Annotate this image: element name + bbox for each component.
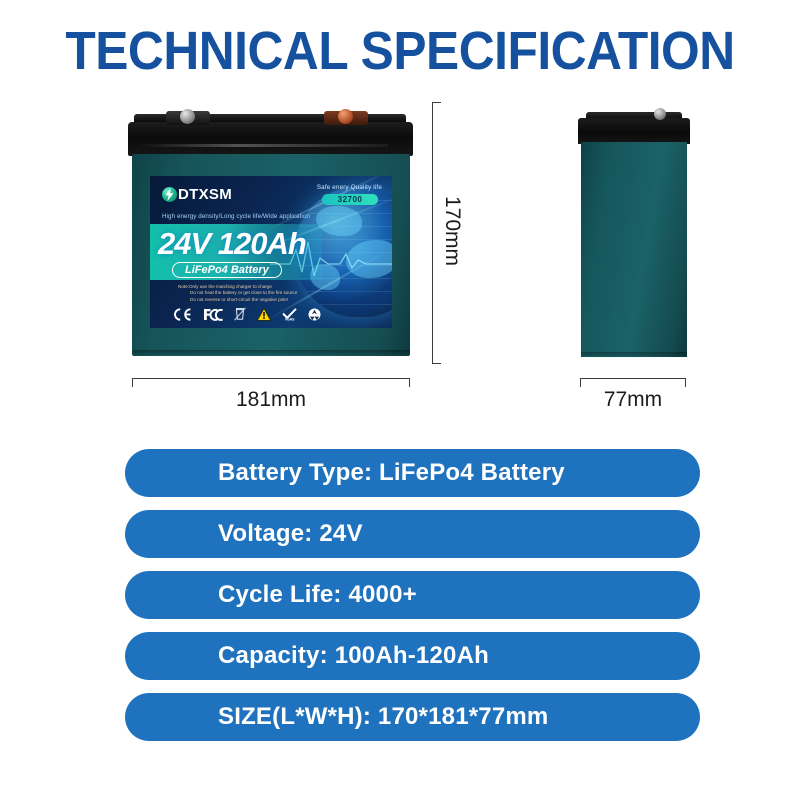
cap-highlight: [138, 144, 388, 147]
certification-icon-row: RoHS: [172, 307, 321, 321]
battery-top-cap: [128, 122, 413, 156]
bracket-cap: [132, 378, 133, 387]
product-illustration-area: DTXSM Safe enery Quality life 32700 High…: [0, 88, 800, 428]
battery-case: DTXSM Safe enery Quality life 32700 High…: [132, 154, 410, 356]
spec-row-voltage: Voltage: 24V: [125, 510, 700, 558]
recycle-icon: [308, 308, 321, 321]
bracket-cap: [580, 378, 581, 387]
label-headline: 24V 120Ah: [158, 226, 306, 262]
rohs-check-icon: RoHS: [282, 308, 297, 321]
side-case-shadow: [581, 352, 687, 358]
brand-lockup: DTXSM: [162, 187, 232, 202]
cell-model-badge: 32700: [322, 194, 378, 205]
battery-product-label: DTXSM Safe enery Quality life 32700 High…: [150, 176, 392, 328]
specification-list: Battery Type: LiFePo4 Battery Voltage: 2…: [125, 449, 700, 741]
svg-text:RoHS: RoHS: [285, 317, 295, 320]
label-tagline-top: Safe enery Quality life: [317, 184, 382, 191]
spec-row-size: SIZE(L*W*H): 170*181*77mm: [125, 693, 700, 741]
negative-terminal-bolt: [180, 109, 195, 124]
label-chemistry-badge: LiFePo4 Battery: [172, 262, 282, 278]
bracket-line: [432, 102, 433, 364]
label-tagline-sub: High energy density/Long cycle life/Wide…: [162, 213, 310, 220]
spec-row-cycle-life: Cycle Life: 4000+: [125, 571, 700, 619]
spec-text: Cycle Life: 4000+: [218, 581, 417, 609]
label-warning-text: Note:Only use the matching charger to ch…: [160, 284, 350, 303]
side-terminal-bolt: [654, 108, 666, 120]
fcc-icon: [203, 308, 223, 321]
bracket-cap: [432, 363, 441, 364]
bracket-cap: [685, 378, 686, 387]
spec-text: Capacity: 100Ah-120Ah: [218, 642, 489, 670]
case-shadow: [132, 350, 410, 356]
ce-icon: [172, 308, 192, 321]
bracket-cap: [409, 378, 410, 387]
width-dimension-label: 181mm: [132, 388, 410, 412]
side-top-cap: [578, 118, 690, 144]
spec-text: Voltage: 24V: [218, 520, 363, 548]
bracket-line: [580, 378, 686, 379]
battery-front-view: DTXSM Safe enery Quality life 32700 High…: [128, 114, 413, 364]
spec-text: SIZE(L*W*H): 170*181*77mm: [218, 703, 548, 731]
warning-triangle-icon: [257, 308, 271, 321]
bracket-line: [132, 378, 410, 379]
spec-text: Battery Type: LiFePo4 Battery: [218, 459, 565, 487]
label-header: DTXSM Safe enery Quality life 32700: [150, 182, 392, 212]
brand-name: DTXSM: [178, 187, 232, 202]
weee-bin-icon: [234, 307, 246, 321]
battery-side-view: [578, 112, 690, 364]
depth-dimension-label: 77mm: [578, 388, 688, 412]
spec-row-capacity: Capacity: 100Ah-120Ah: [125, 632, 700, 680]
positive-terminal-bolt: [338, 109, 353, 124]
warning-line: Do not reverse or short-circuit the nega…: [190, 297, 350, 303]
bracket-cap: [432, 102, 441, 103]
page-title: TECHNICAL SPECIFICATION: [32, 22, 768, 80]
lightning-bolt-icon: [162, 187, 177, 202]
spec-row-battery-type: Battery Type: LiFePo4 Battery: [125, 449, 700, 497]
side-battery-case: [581, 142, 687, 357]
height-dimension-label: 170mm: [440, 196, 464, 266]
